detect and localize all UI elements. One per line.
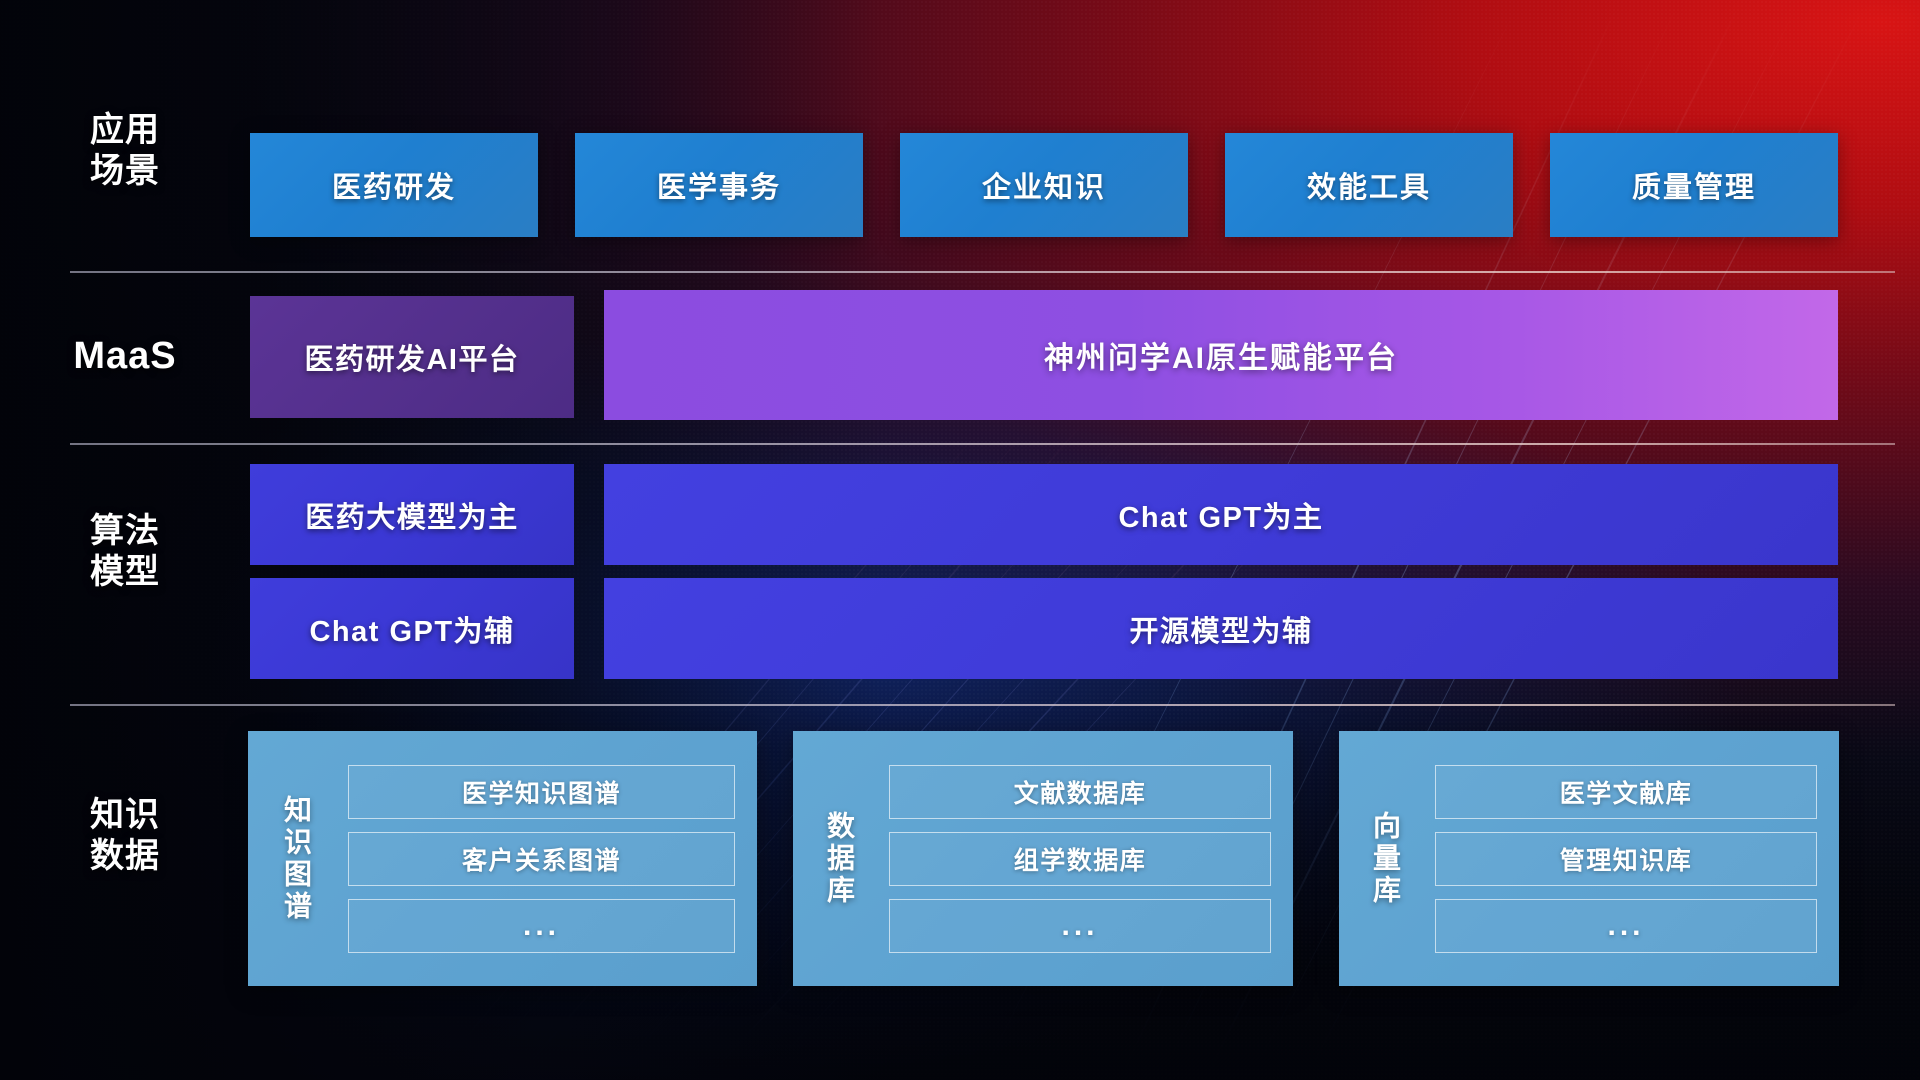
alg-box-chatgpt-primary[interactable]: Chat GPT为主: [604, 464, 1838, 565]
row-label-algorithm: 算法 模型: [35, 511, 215, 594]
knowledge-item-more-graph-label: ...: [523, 909, 560, 943]
alg-box-pharma-llm-primary-label: 医药大模型为主: [305, 494, 519, 536]
knowledge-panel-vector-store: 向量库 医学文献库 管理知识库 ...: [1339, 731, 1839, 986]
knowledge-item-omics-database[interactable]: 组学数据库: [889, 832, 1271, 886]
knowledge-item-management-knowledge-store[interactable]: 管理知识库: [1435, 832, 1817, 886]
app-box-medical-affairs[interactable]: 医学事务: [575, 133, 863, 237]
knowledge-panel-vector-store-items: 医学文献库 管理知识库 ...: [1431, 731, 1839, 986]
knowledge-item-customer-relation-graph-label: 客户关系图谱: [462, 841, 621, 877]
app-box-efficiency-tools[interactable]: 效能工具: [1225, 133, 1513, 237]
alg-box-chatgpt-secondary-label: Chat GPT为辅: [309, 608, 514, 650]
app-box-efficiency-tools-label: 效能工具: [1307, 164, 1431, 206]
knowledge-item-more-vector-label: ...: [1607, 909, 1644, 943]
divider-algorithm-knowledge: [70, 704, 1895, 706]
row-label-knowledge-line2: 数据: [35, 836, 215, 877]
knowledge-panel-vector-store-title: 向量库: [1339, 731, 1431, 986]
row-label-maas-text: MaaS: [35, 333, 215, 379]
maas-box-shenzhou-wenxue-platform-label: 神州问学AI原生赋能平台: [1044, 333, 1398, 377]
knowledge-item-customer-relation-graph[interactable]: 客户关系图谱: [348, 832, 735, 886]
app-box-enterprise-knowledge[interactable]: 企业知识: [900, 133, 1188, 237]
row-label-knowledge-line1: 知识: [35, 795, 215, 836]
row-label-application-line2: 场景: [35, 151, 215, 192]
row-label-application-line1: 应用: [35, 110, 215, 151]
knowledge-panel-knowledge-graph: 知识图谱 医学知识图谱 客户关系图谱 ...: [248, 731, 757, 986]
maas-box-drug-rnd-ai-platform[interactable]: 医药研发AI平台: [250, 296, 574, 418]
knowledge-item-more-database[interactable]: ...: [889, 899, 1271, 953]
architecture-diagram: 应用 场景 医药研发 医学事务 企业知识 效能工具 质量管理 MaaS 医药研发…: [0, 0, 1920, 1080]
maas-box-drug-rnd-ai-platform-label: 医药研发AI平台: [304, 336, 519, 378]
knowledge-item-more-database-label: ...: [1061, 909, 1098, 943]
app-box-medical-affairs-label: 医学事务: [657, 164, 781, 206]
app-box-enterprise-knowledge-label: 企业知识: [982, 164, 1106, 206]
alg-box-chatgpt-primary-label: Chat GPT为主: [1118, 494, 1323, 536]
alg-box-chatgpt-secondary[interactable]: Chat GPT为辅: [250, 578, 574, 679]
app-box-quality-management[interactable]: 质量管理: [1550, 133, 1838, 237]
knowledge-item-medical-knowledge-graph[interactable]: 医学知识图谱: [348, 765, 735, 819]
knowledge-item-literature-database-label: 文献数据库: [1014, 774, 1147, 810]
row-label-application: 应用 场景: [35, 110, 215, 193]
knowledge-item-medical-literature-store-label: 医学文献库: [1560, 774, 1693, 810]
row-label-maas: MaaS: [35, 333, 215, 379]
knowledge-item-medical-knowledge-graph-label: 医学知识图谱: [462, 774, 621, 810]
alg-box-opensource-secondary[interactable]: 开源模型为辅: [604, 578, 1838, 679]
knowledge-item-literature-database[interactable]: 文献数据库: [889, 765, 1271, 819]
row-label-knowledge: 知识 数据: [35, 795, 215, 878]
app-box-drug-rnd-label: 医药研发: [332, 164, 456, 206]
knowledge-panel-knowledge-graph-items: 医学知识图谱 客户关系图谱 ...: [344, 731, 757, 986]
knowledge-panel-database: 数据库 文献数据库 组学数据库 ...: [793, 731, 1293, 986]
divider-maas-algorithm: [70, 443, 1895, 445]
alg-box-pharma-llm-primary[interactable]: 医药大模型为主: [250, 464, 574, 565]
maas-box-shenzhou-wenxue-platform[interactable]: 神州问学AI原生赋能平台: [604, 290, 1838, 420]
knowledge-panel-database-items: 文献数据库 组学数据库 ...: [885, 731, 1293, 986]
knowledge-item-more-vector[interactable]: ...: [1435, 899, 1817, 953]
app-box-drug-rnd[interactable]: 医药研发: [250, 133, 538, 237]
row-label-algorithm-line2: 模型: [35, 552, 215, 593]
knowledge-panel-database-title: 数据库: [793, 731, 885, 986]
knowledge-item-medical-literature-store[interactable]: 医学文献库: [1435, 765, 1817, 819]
knowledge-item-more-graph[interactable]: ...: [348, 899, 735, 953]
knowledge-item-omics-database-label: 组学数据库: [1014, 841, 1147, 877]
knowledge-item-management-knowledge-store-label: 管理知识库: [1560, 841, 1693, 877]
knowledge-panel-knowledge-graph-title: 知识图谱: [248, 731, 344, 986]
divider-application-maas: [70, 271, 1895, 273]
alg-box-opensource-secondary-label: 开源模型为辅: [1129, 608, 1312, 650]
app-box-quality-management-label: 质量管理: [1632, 164, 1756, 206]
row-label-algorithm-line1: 算法: [35, 511, 215, 552]
